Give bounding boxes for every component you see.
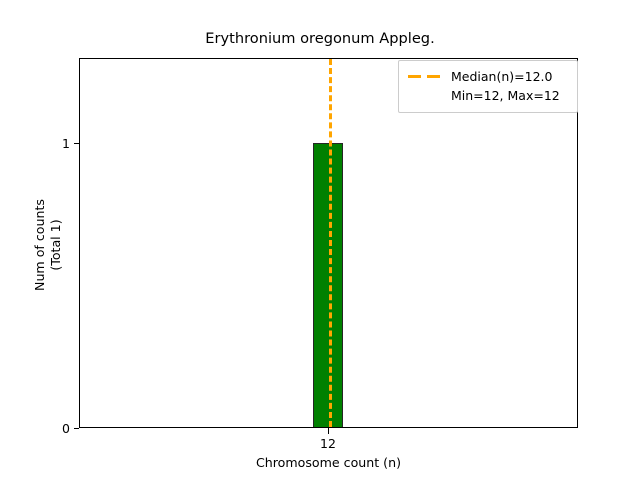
plot-area (79, 58, 578, 428)
ytick-label-1: 1 (26, 136, 70, 151)
ytick-mark-1 (74, 143, 80, 144)
y-axis-label-main: Num of counts (32, 199, 47, 291)
legend-label-median: Median(n)=12.0 (451, 67, 560, 86)
bar-12 (313, 143, 343, 428)
page-title: Erythronium oregonum Appleg. (0, 30, 640, 47)
xtick-label-12: 12 (298, 436, 358, 451)
median-line (329, 59, 332, 427)
ytick-mark-0 (74, 428, 80, 429)
y-axis-label-total: (Total 1) (48, 199, 64, 291)
legend-entry-median: Median(n)=12.0 Min=12, Max=12 (407, 67, 569, 105)
ytick-label-0: 0 (26, 421, 70, 436)
dashed-line-icon (407, 70, 445, 84)
legend-label-minmax: Min=12, Max=12 (451, 86, 560, 105)
y-axis-label: Num of counts (Total 1) (31, 60, 65, 430)
legend: Median(n)=12.0 Min=12, Max=12 (398, 60, 578, 113)
chart-figure: Erythronium oregonum Appleg. 0 1 12 Chro… (0, 0, 640, 480)
xtick-mark-12 (328, 428, 329, 434)
x-axis-label: Chromosome count (n) (79, 455, 578, 470)
